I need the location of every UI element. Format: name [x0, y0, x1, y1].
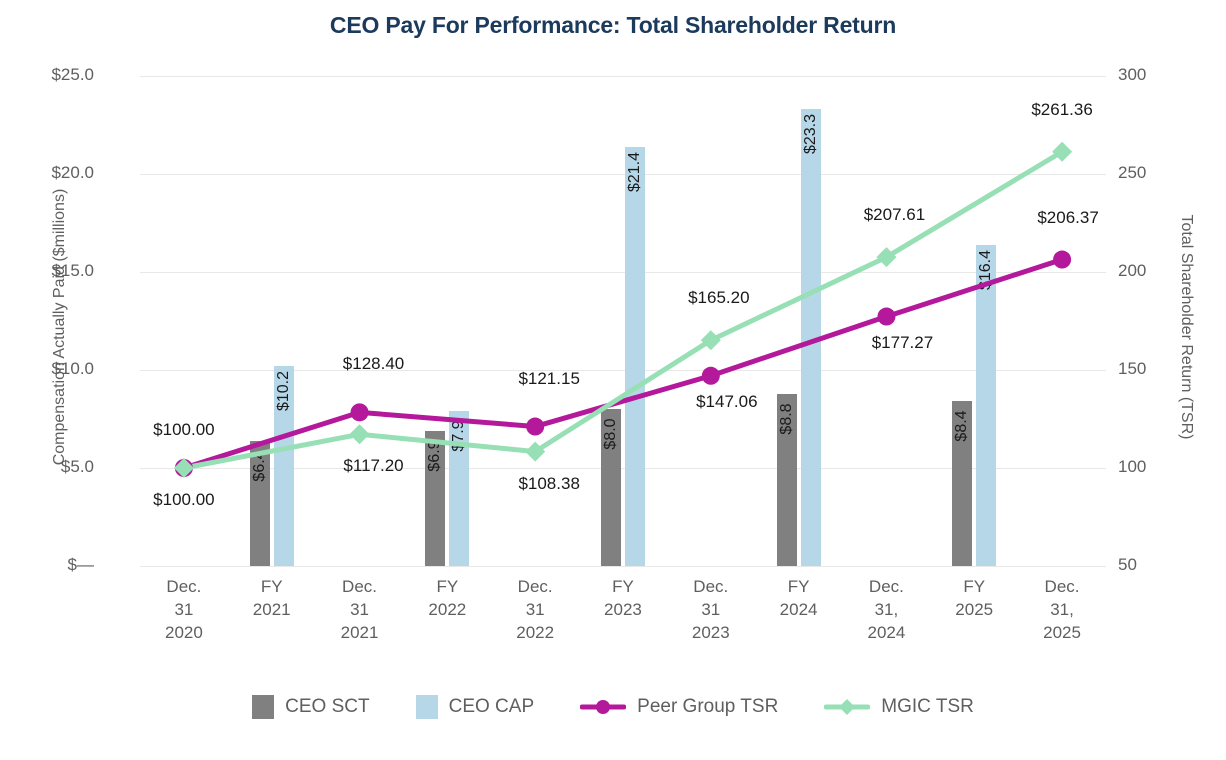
y-axis-title-left: Compensation Actually Paid ($millions) [51, 67, 69, 587]
y-axis-title-right: Total Shareholder Return (TSR) [1177, 67, 1195, 587]
series-marker-circle [877, 308, 895, 326]
y-tick-label-right: 250 [1118, 163, 1178, 183]
y-tick-label-left: $5.0 [0, 457, 94, 477]
gridline [140, 566, 1106, 567]
legend-label: Peer Group TSR [637, 696, 778, 718]
chart-root: CEO Pay For Performance: Total Sharehold… [0, 0, 1226, 760]
y-tick-label-left: $20.0 [0, 163, 94, 183]
legend-line-marker-icon [824, 698, 870, 716]
series-marker-circle [1053, 251, 1071, 269]
x-tick-label: FY2025 [930, 575, 1018, 667]
series-marker-diamond [174, 458, 194, 478]
series-marker-circle [351, 403, 369, 421]
series-line-mgic-tsr [184, 152, 1062, 468]
mgic-tsr-label: $108.38 [518, 474, 579, 494]
y-tick-label-right: 150 [1118, 359, 1178, 379]
x-axis-ticks: Dec.312020FY2021Dec.312021FY2022Dec.3120… [140, 575, 1106, 667]
legend-swatch-icon [252, 695, 274, 719]
y-tick-label-left: $10.0 [0, 359, 94, 379]
series-marker-circle [526, 418, 544, 436]
plot-area: $6.4$6.9$8.0$8.8$8.4$10.2$7.9$21.4$23.3$… [140, 76, 1106, 566]
line-series-layer [140, 76, 1106, 566]
peer-tsr-label: $100.00 [153, 420, 214, 440]
legend-item-peer-group-tsr[interactable]: Peer Group TSR [580, 696, 778, 718]
legend-label: MGIC TSR [881, 696, 974, 718]
y-tick-label-right: 300 [1118, 65, 1178, 85]
legend-item-ceo-cap[interactable]: CEO CAP [416, 695, 535, 719]
y-tick-label-left: $15.0 [0, 261, 94, 281]
chart-title: CEO Pay For Performance: Total Sharehold… [0, 12, 1226, 39]
y-tick-label-left: $— [0, 555, 94, 575]
legend-line-marker-icon [580, 698, 626, 716]
y-tick-label-left: $25.0 [0, 65, 94, 85]
peer-tsr-label: $147.06 [696, 392, 757, 412]
x-tick-label: Dec.312022 [491, 575, 579, 667]
x-tick-label: Dec.312023 [667, 575, 755, 667]
legend-item-mgic-tsr[interactable]: MGIC TSR [824, 696, 974, 718]
legend-label: CEO SCT [285, 696, 369, 718]
x-tick-label: Dec.312021 [316, 575, 404, 667]
y-tick-label-right: 100 [1118, 457, 1178, 477]
peer-tsr-label: $121.15 [518, 369, 579, 389]
x-tick-label: Dec.31,2024 [843, 575, 931, 667]
series-line-peer-group-tsr [184, 260, 1062, 468]
x-tick-label: Dec.312020 [140, 575, 228, 667]
mgic-tsr-label: $165.20 [688, 288, 749, 308]
mgic-tsr-label: $207.61 [864, 205, 925, 225]
peer-tsr-label: $177.27 [872, 333, 933, 353]
legend-swatch-icon [416, 695, 438, 719]
mgic-tsr-label: $261.36 [1031, 100, 1092, 120]
x-tick-label: FY2022 [403, 575, 491, 667]
y-tick-label-right: 200 [1118, 261, 1178, 281]
x-tick-label: FY2021 [228, 575, 316, 667]
chart-legend: CEO SCTCEO CAPPeer Group TSRMGIC TSR [0, 695, 1226, 719]
mgic-tsr-label: $117.20 [343, 456, 403, 476]
x-tick-label: FY2024 [755, 575, 843, 667]
y-tick-label-right: 50 [1118, 555, 1178, 575]
peer-tsr-label: $206.37 [1037, 208, 1098, 228]
legend-label: CEO CAP [449, 696, 535, 718]
mgic-tsr-label: $100.00 [153, 490, 214, 510]
x-tick-label: Dec.31,2025 [1018, 575, 1106, 667]
series-marker-diamond [350, 424, 370, 444]
legend-item-ceo-sct[interactable]: CEO SCT [252, 695, 369, 719]
series-marker-circle [702, 367, 720, 385]
peer-tsr-label: $128.40 [343, 354, 404, 374]
x-tick-label: FY2023 [579, 575, 667, 667]
